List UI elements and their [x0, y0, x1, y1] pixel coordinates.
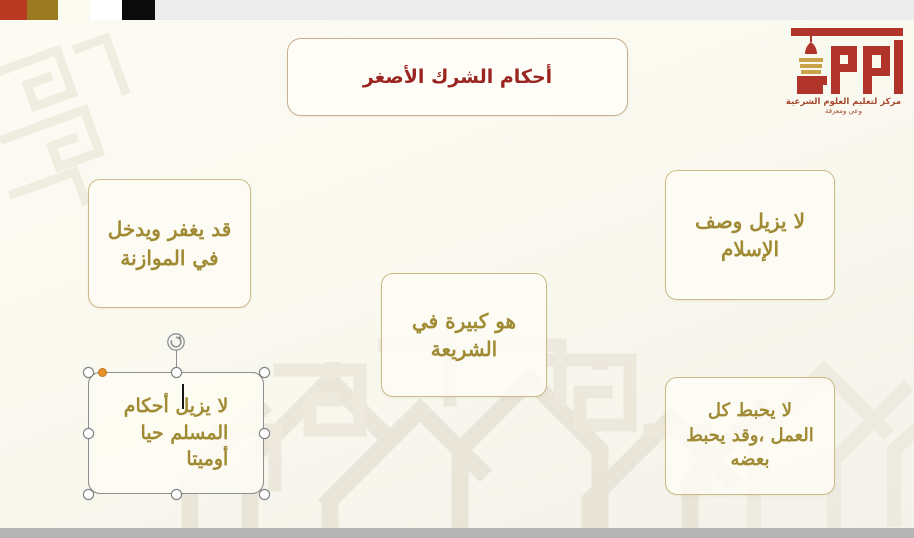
shape-la-yuhbit-kull-al-amal[interactable]: لا يحبط كل العمل ،وقد يحبط بعضه: [665, 377, 835, 495]
shape-qad-yughfar[interactable]: قد يغفر ويدخل في الموازنة: [88, 179, 251, 308]
ihkam-wordmark-icon: [781, 24, 906, 96]
resize-handle-bottom-right[interactable]: [259, 489, 270, 500]
title-shape[interactable]: أحكام الشرك الأصغر: [287, 38, 628, 116]
shape-kabira-fi-shariah[interactable]: هو كبيرة في الشريعة: [381, 273, 547, 397]
swatch-white[interactable]: [90, 0, 122, 20]
swatch-black[interactable]: [122, 0, 155, 20]
shape-text: هو كبيرة في الشريعة: [402, 303, 526, 368]
title-shape-text: أحكام الشرك الأصغر: [353, 60, 562, 95]
shape-la-yuzil-wasf-al-islam[interactable]: لا يزيل وصف الإسلام: [665, 170, 835, 300]
logo-subtitle-secondary: وعي ومعرفة: [781, 107, 906, 116]
swatch-red[interactable]: [0, 0, 27, 20]
resize-handle-top-left[interactable]: [83, 367, 94, 378]
logo-subtitle-primary: مركز لتعليم العلوم الشرعية: [781, 97, 906, 107]
selection-frame: [88, 372, 264, 494]
resize-handle-top-center[interactable]: [171, 367, 182, 378]
resize-handle-middle-left[interactable]: [83, 428, 94, 439]
text-cursor-caret: [182, 384, 184, 409]
shape-text: لا يحبط كل العمل ،وقد يحبط بعضه: [676, 395, 823, 477]
selected-shape-group[interactable]: لا يزيل أحكام المسلم حيا أوميتا: [78, 362, 274, 504]
shape-text: قد يغفر ويدخل في الموازنة: [98, 211, 242, 276]
adjustment-handle[interactable]: [98, 368, 107, 377]
slide-canvas[interactable]: مركز لتعليم العلوم الشرعية وعي ومعرفة أح…: [0, 20, 914, 528]
shape-text: لا يزيل وصف الإسلام: [685, 203, 815, 268]
swatch-cream[interactable]: [58, 0, 90, 20]
resize-handle-middle-right[interactable]: [259, 428, 270, 439]
slide-editor-window: مركز لتعليم العلوم الشرعية وعي ومعرفة أح…: [0, 0, 914, 538]
swatch-gold[interactable]: [27, 0, 58, 20]
resize-handle-bottom-left[interactable]: [83, 489, 94, 500]
palette-filler: [155, 0, 914, 20]
rotate-handle-icon[interactable]: [166, 332, 186, 352]
mosque-dome-icon: [799, 36, 823, 74]
viewer-bottom-bar: [0, 528, 914, 538]
resize-handle-bottom-center[interactable]: [171, 489, 182, 500]
theme-color-strip: [0, 0, 914, 20]
resize-handle-top-right[interactable]: [259, 367, 270, 378]
brand-logo: مركز لتعليم العلوم الشرعية وعي ومعرفة: [781, 24, 906, 136]
